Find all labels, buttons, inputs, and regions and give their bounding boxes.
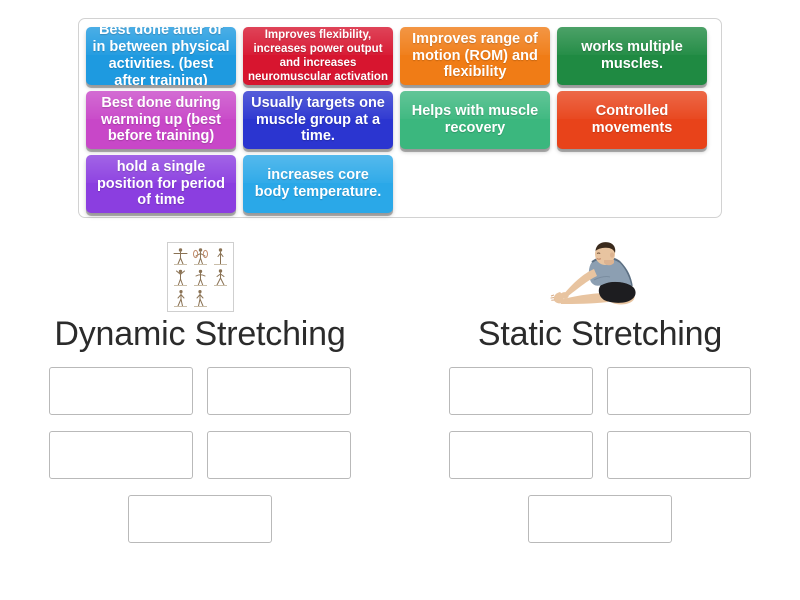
answer-tile[interactable]: Best done after or in between physical a… <box>86 27 236 85</box>
dropzone-slot[interactable] <box>607 431 751 479</box>
dropzone-slot[interactable] <box>528 495 672 543</box>
stretch-figure-icon <box>171 267 190 287</box>
seated-hamstring-stretch-figure <box>548 240 652 312</box>
answer-tile[interactable]: Improves flexibility, increases power ou… <box>243 27 393 85</box>
category-title-static-stretching: Static Stretching <box>478 316 722 353</box>
stretch-grid-empty-cell <box>211 288 230 308</box>
category-static-stretching: Static Stretching <box>400 232 800 543</box>
answer-tile[interactable]: hold a single position for period of tim… <box>86 155 236 213</box>
answer-tile-label: Best done after or in between physical a… <box>91 27 231 85</box>
stretch-figure-icon <box>191 246 210 266</box>
stretch-figure-icon <box>191 267 210 287</box>
stretch-illustration-grid <box>167 242 234 312</box>
category-columns: Dynamic Stretching <box>0 232 800 543</box>
dropzone-slot[interactable] <box>128 495 272 543</box>
answer-tile-bank[interactable]: Best done after or in between physical a… <box>78 18 722 218</box>
answer-tile-label: Controlled movements <box>562 103 702 137</box>
answer-tile-label: increases core body temperature. <box>248 167 388 201</box>
answer-tile[interactable]: increases core body temperature. <box>243 155 393 213</box>
dropzone-slot[interactable] <box>49 431 193 479</box>
answer-tile-label: Helps with muscle recovery <box>405 103 545 137</box>
stretch-figure-icon <box>211 267 230 287</box>
answer-tile[interactable]: Controlled movements <box>557 91 707 149</box>
dropzone-slot[interactable] <box>49 367 193 415</box>
dropzone-slot[interactable] <box>449 367 593 415</box>
answer-tile-label: Improves flexibility, increases power ou… <box>248 28 388 84</box>
static-stretching-seated-hamstring-photo <box>548 232 652 312</box>
dropzone-slot[interactable] <box>207 367 351 415</box>
answer-tile[interactable]: Improves range of motion (ROM) and flexi… <box>400 27 550 85</box>
stretch-figure-icon <box>171 288 190 308</box>
dropzone-slot[interactable] <box>607 367 751 415</box>
answer-tile[interactable]: works multiple muscles. <box>557 27 707 85</box>
answer-tile[interactable]: Helps with muscle recovery <box>400 91 550 149</box>
dynamic-stretching-illustration-grid-image <box>167 232 234 312</box>
dropzone-group-static <box>430 367 770 543</box>
dropzone-slot[interactable] <box>207 431 351 479</box>
answer-tile-label: Usually targets one muscle group at a ti… <box>248 95 388 145</box>
answer-tile-label: Improves range of motion (ROM) and flexi… <box>405 31 545 81</box>
stretch-figure-icon <box>171 246 190 266</box>
answer-tile-label: Best done during warming up (best before… <box>91 95 231 145</box>
answer-tile-label: hold a single position for period of tim… <box>91 159 231 209</box>
dropzone-slot[interactable] <box>449 431 593 479</box>
answer-tile-label: works multiple muscles. <box>562 39 702 73</box>
answer-tile[interactable]: Usually targets one muscle group at a ti… <box>243 91 393 149</box>
category-dynamic-stretching: Dynamic Stretching <box>0 232 400 543</box>
answer-tile[interactable]: Best done during warming up (best before… <box>86 91 236 149</box>
stretch-figure-icon <box>191 288 210 308</box>
dropzone-group-dynamic <box>30 367 370 543</box>
stretch-figure-icon <box>211 246 230 266</box>
category-title-dynamic-stretching: Dynamic Stretching <box>54 316 345 353</box>
